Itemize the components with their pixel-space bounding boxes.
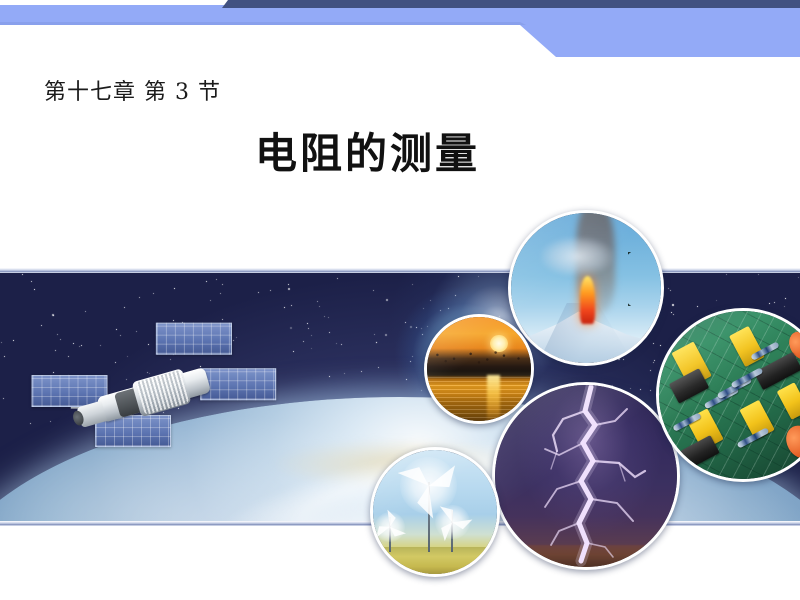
volcano-pine-tree [628,252,655,306]
storm-sky [495,385,677,567]
volcano-cloud [541,237,613,276]
volcano-lava-fountain [580,276,595,324]
chapter-section-label: 第十七章 第 3 节 [44,74,221,106]
page-title: 电阻的测量 [255,120,480,181]
solar-panel [200,368,276,400]
volcano-sky [511,213,661,363]
satellite-ribs [136,370,190,415]
bird-flock [427,351,531,363]
wind-farm-scene [373,450,497,574]
lightning-bolt [495,385,677,567]
solar-panel [156,323,232,355]
circle-photo-lightning [492,382,680,570]
slide-canvas: 第十七章 第 3 节 电阻的测量 [0,0,800,600]
circle-photo-wind-turbine [370,447,500,577]
light-blue-angled-band [0,5,800,57]
sun-disc [490,335,508,353]
circle-photo-volcano [508,210,664,366]
header-decoration [0,0,800,80]
pcb-substrate [659,311,800,479]
canola-field [373,547,497,574]
dark-navy-top-strip [222,0,800,8]
circle-photo-circuit-board [656,308,800,482]
